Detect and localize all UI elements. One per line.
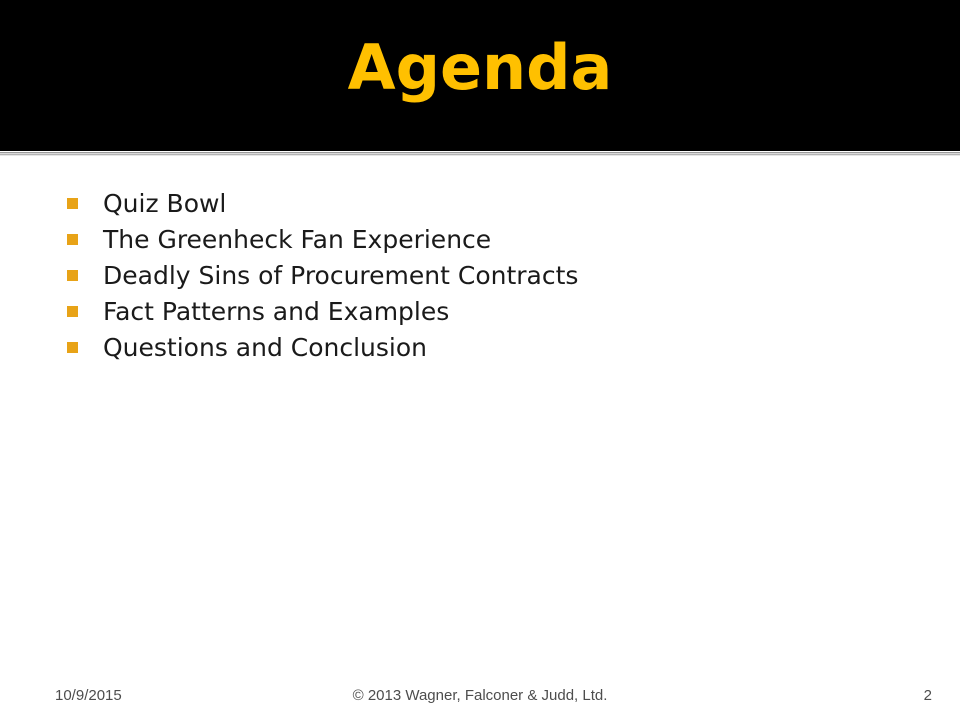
list-item: Questions and Conclusion — [0, 330, 960, 366]
title-divider — [0, 151, 960, 157]
presentation-slide: Agenda Quiz Bowl The Greenheck Fan Exper… — [0, 0, 960, 720]
square-bullet-icon — [67, 306, 78, 317]
list-item-label: Questions and Conclusion — [103, 330, 427, 365]
list-item: Quiz Bowl — [0, 186, 960, 222]
slide-number: 2 — [924, 684, 932, 708]
slide-footer: 10/9/2015 © 2013 Wagner, Falconer & Judd… — [0, 684, 960, 708]
square-bullet-icon — [67, 270, 78, 281]
list-item-label: The Greenheck Fan Experience — [103, 222, 491, 257]
list-item-label: Deadly Sins of Procurement Contracts — [103, 258, 578, 293]
square-bullet-icon — [67, 342, 78, 353]
page-title: Agenda — [0, 30, 960, 106]
list-item: Fact Patterns and Examples — [0, 294, 960, 330]
list-item: The Greenheck Fan Experience — [0, 222, 960, 258]
square-bullet-icon — [67, 234, 78, 245]
slide-title-band: Agenda — [0, 0, 960, 151]
list-item: Deadly Sins of Procurement Contracts — [0, 258, 960, 294]
agenda-bullet-list: Quiz Bowl The Greenheck Fan Experience D… — [0, 186, 960, 366]
list-item-label: Quiz Bowl — [103, 186, 226, 221]
list-item-label: Fact Patterns and Examples — [103, 294, 449, 329]
footer-copyright: © 2013 Wagner, Falconer & Judd, Ltd. — [0, 684, 960, 708]
square-bullet-icon — [67, 198, 78, 209]
